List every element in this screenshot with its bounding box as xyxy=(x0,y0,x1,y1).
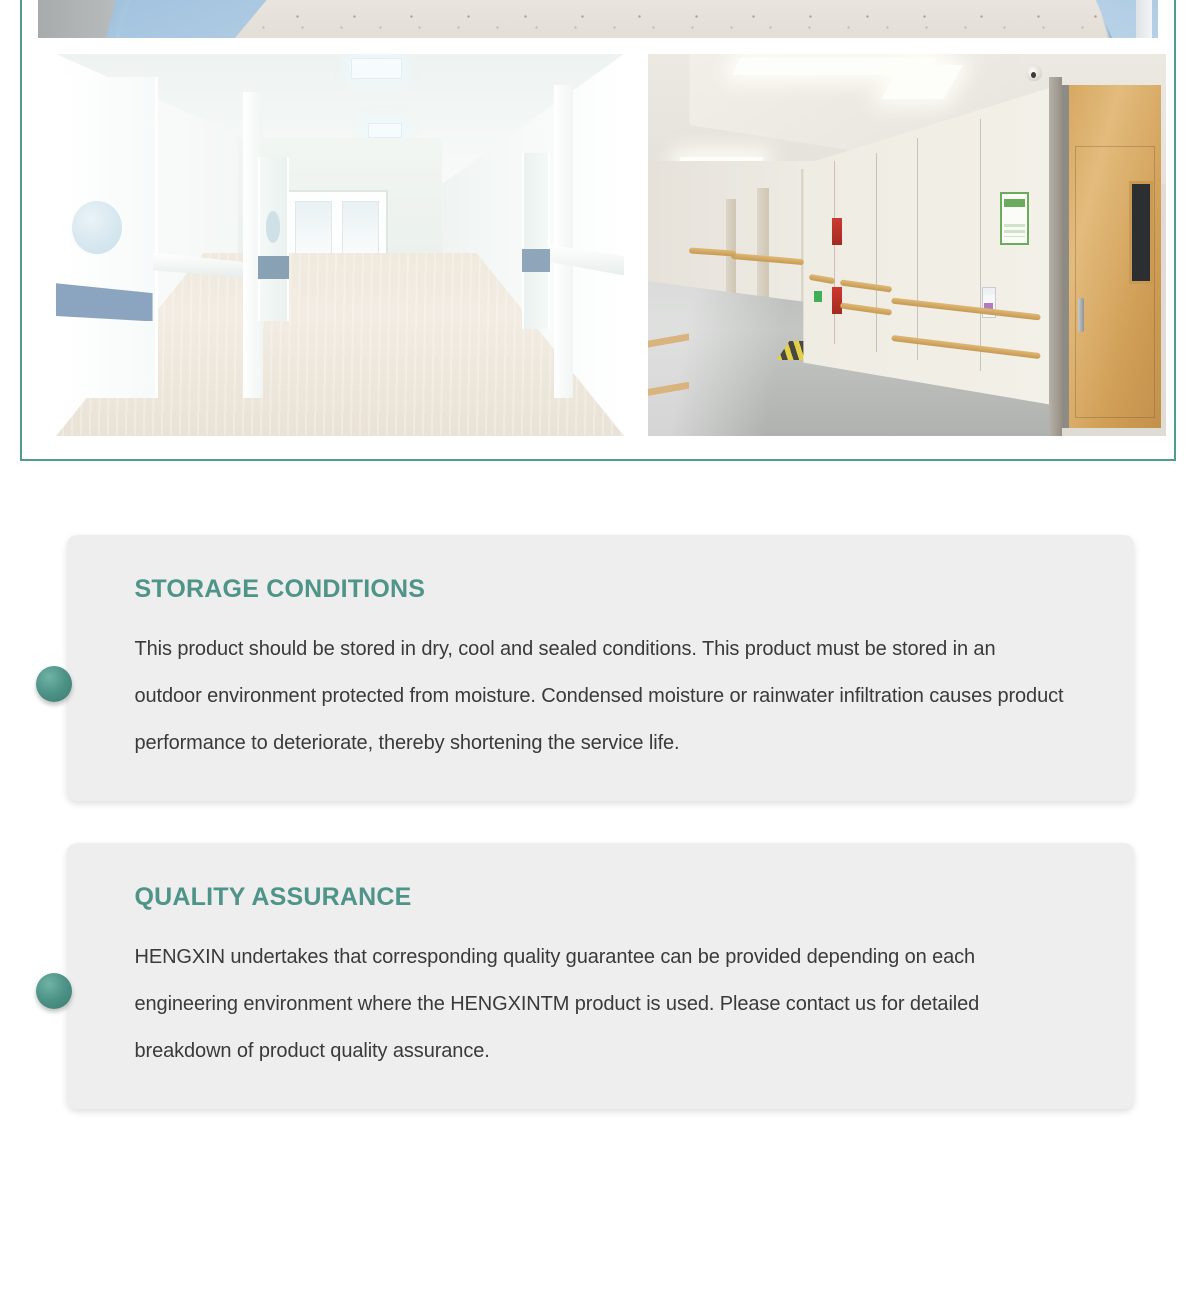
white-hospital-corridor-image xyxy=(56,54,624,436)
white-corridor-scene xyxy=(56,54,624,436)
info-card-list: STORAGE CONDITIONS This product should b… xyxy=(0,535,1200,1109)
wall-panel-seam xyxy=(917,138,918,360)
wall-panel-seam xyxy=(980,119,981,371)
ward-corridor-handrails-image xyxy=(648,54,1166,436)
bullet-dot-icon xyxy=(36,973,72,1009)
door-jamb xyxy=(1049,77,1062,436)
ceiling-light-icon xyxy=(368,123,402,138)
corridor-door-right xyxy=(522,153,550,329)
corridor-chair xyxy=(648,310,689,432)
gallery-image-grid xyxy=(38,0,1158,431)
fire-notice-sign xyxy=(832,218,842,245)
vinyl-floor-banner-image xyxy=(38,0,1158,38)
ward-corridor-scene xyxy=(648,54,1166,436)
card-body: HENGXIN undertakes that corresponding qu… xyxy=(135,934,1066,1075)
floor-edge-right xyxy=(1136,0,1152,38)
storage-conditions-card: STORAGE CONDITIONS This product should b… xyxy=(67,535,1134,801)
floor-blue-region-right xyxy=(928,0,1158,38)
card-body: This product should be stored in dry, co… xyxy=(135,626,1066,767)
corridor-pillar-right xyxy=(554,85,573,398)
exit-indicator-icon xyxy=(814,291,822,302)
product-application-gallery xyxy=(20,0,1176,461)
door-blue-band xyxy=(258,256,289,279)
fire-notice-sign xyxy=(832,287,842,314)
wall-panel-seam xyxy=(834,161,835,344)
corridor-door-left-far xyxy=(258,157,289,321)
bullet-dot-icon xyxy=(36,666,72,702)
door-vision-panel xyxy=(1129,181,1153,284)
wall-panel-seam xyxy=(876,153,877,352)
vinyl-floor-scene xyxy=(38,0,1158,38)
card-title: STORAGE CONDITIONS xyxy=(135,575,1066,604)
card-content: STORAGE CONDITIONS This product should b… xyxy=(67,575,1134,767)
door-blue-band xyxy=(522,249,550,272)
door-handle-icon xyxy=(1078,298,1084,332)
quality-assurance-card: QUALITY ASSURANCE HENGXIN undertakes tha… xyxy=(67,843,1134,1109)
floor-blue-region-left xyxy=(118,0,378,38)
wooden-room-door xyxy=(1062,85,1160,429)
ward-room-sign xyxy=(1000,192,1028,245)
ceiling-light-icon xyxy=(351,58,402,79)
card-content: QUALITY ASSURANCE HENGXIN undertakes tha… xyxy=(67,883,1134,1075)
card-title: QUALITY ASSURANCE xyxy=(135,883,1066,912)
security-camera-icon xyxy=(1026,65,1042,81)
